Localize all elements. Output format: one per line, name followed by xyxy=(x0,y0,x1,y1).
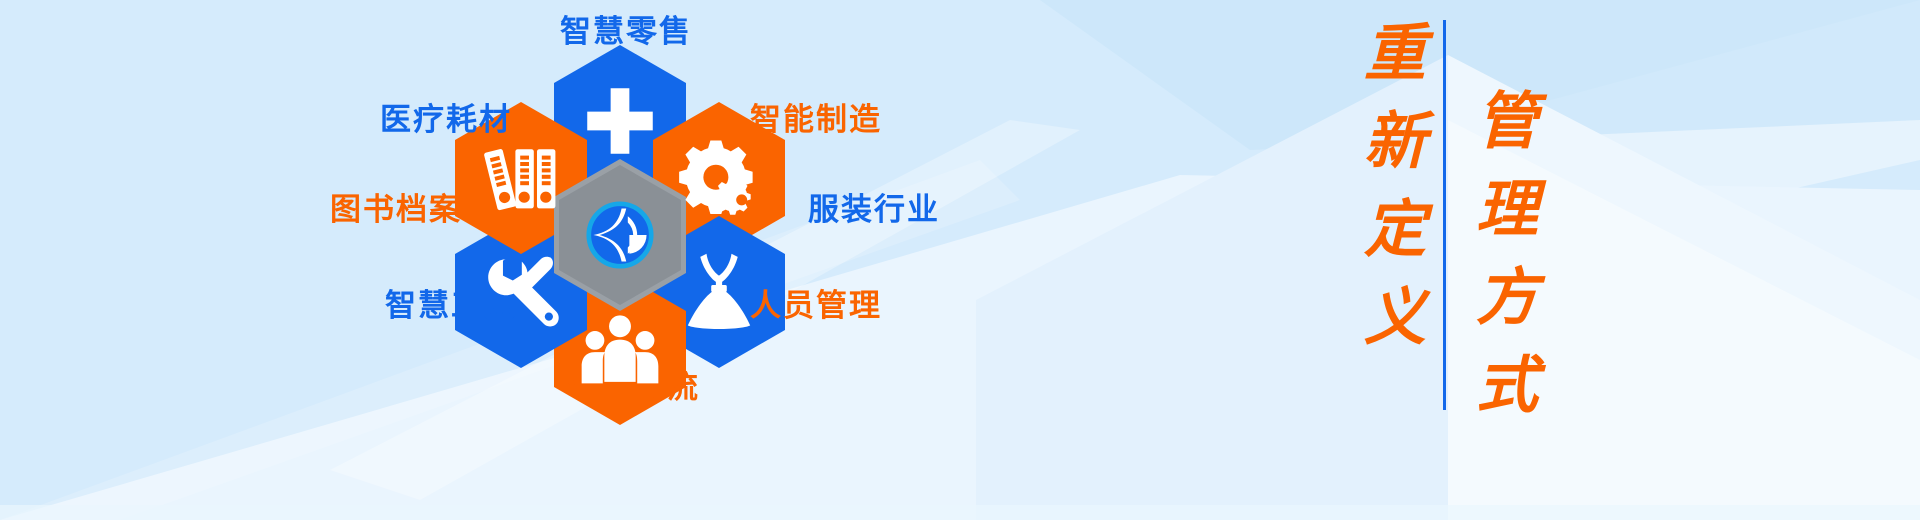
label-smart-retail: 智慧零售 xyxy=(560,16,692,47)
hexagon-cluster xyxy=(455,45,785,435)
label-books-archive: 图书档案 xyxy=(330,194,462,225)
slogan-divider xyxy=(1443,20,1446,410)
slogan-line-2: 管理方式 xyxy=(1470,88,1532,440)
hex-center-brand[interactable] xyxy=(554,159,686,311)
banner-root: 智慧零售 医疗耗材 智能制造 图书档案 服装行业 智慧工具 人员管理 仓储物流 … xyxy=(0,0,1920,520)
slogan-line-1: 重新定义 xyxy=(1358,20,1420,372)
background-decoration xyxy=(0,0,1920,520)
label-apparel-industry: 服装行业 xyxy=(808,194,940,225)
rfid-signal-logo-icon xyxy=(554,159,686,311)
